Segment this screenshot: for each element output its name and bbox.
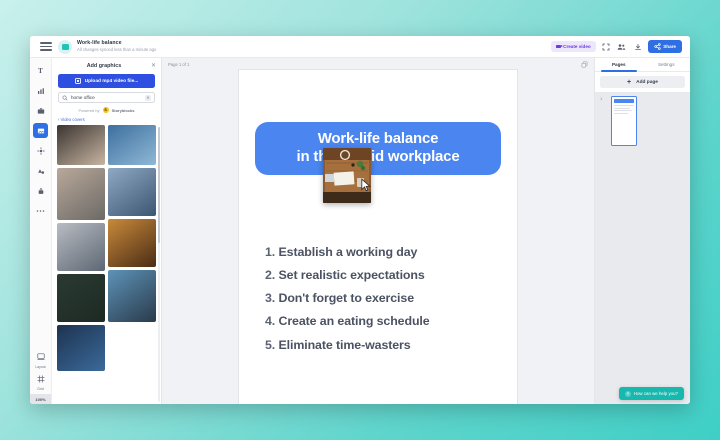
thumbnail-scroll-area[interactable] (52, 125, 161, 404)
app-body: T (30, 58, 690, 404)
topbar-actions: Create video (551, 40, 684, 53)
thumb-line (614, 110, 632, 111)
title-line-1: Work-life balance (263, 130, 493, 148)
thumb-line (614, 105, 634, 106)
upload-label: Upload mp4 video file... (85, 79, 139, 84)
app-logo (58, 40, 72, 54)
bullet-text: Don't forget to exercise (278, 291, 414, 305)
title-banner[interactable]: Work-life balance in the hybrid workplac… (255, 122, 501, 175)
tab-settings[interactable]: Settings (643, 58, 691, 71)
text-tool-icon[interactable]: T (33, 63, 48, 78)
hamburger-icon[interactable] (40, 42, 52, 51)
grid-icon[interactable] (33, 372, 48, 387)
upload-icon (75, 78, 81, 84)
top-bar: Work-life balance All changes synced les… (30, 36, 690, 58)
slide-canvas[interactable]: Work-life balance in the hybrid workplac… (239, 70, 517, 404)
add-graphics-panel: Add graphics ✕ Upload mp4 video file... … (52, 58, 162, 404)
provider-name: Storyblocks (112, 108, 135, 113)
storyblocks-badge: S (103, 107, 109, 113)
bullet-number: 3. (265, 291, 278, 305)
document-meta: Work-life balance All changes synced les… (77, 41, 156, 52)
ellipsis-icon[interactable] (33, 203, 48, 218)
page-number: 1 (600, 96, 602, 400)
layout-icon[interactable] (33, 349, 48, 364)
panel-title: Add graphics (57, 63, 151, 69)
glass-office-tower[interactable] (108, 168, 156, 216)
bullet-text: Establish a working day (278, 245, 417, 259)
bullet-number: 5. (265, 338, 278, 352)
grid-label: Grid (37, 387, 43, 391)
thumbnail-grid (57, 125, 156, 371)
control-room-monitors[interactable] (108, 125, 156, 165)
download-icon[interactable] (632, 41, 644, 53)
chart-bar-icon[interactable] (33, 83, 48, 98)
office-window-shadow[interactable] (57, 168, 105, 220)
bullet-item: 5. Eliminate time-wasters (265, 339, 495, 353)
page-indicator: Page 1 of 1 (168, 62, 189, 67)
bullet-item: 4. Create an eating schedule (265, 315, 495, 329)
tool-rail: T (30, 58, 52, 404)
bullet-item: 1. Establish a working day (265, 246, 495, 260)
layout-label: Layout (35, 365, 45, 369)
upload-video-button[interactable]: Upload mp4 video file... (58, 74, 155, 88)
expand-icon[interactable] (600, 41, 612, 53)
clear-icon[interactable]: ✕ (145, 95, 151, 101)
plus-icon: + (627, 79, 631, 86)
breadcrumb[interactable]: ‹ Video covers (52, 117, 161, 125)
tab-pages[interactable]: Pages (595, 58, 643, 71)
lock-icon[interactable] (33, 183, 48, 198)
bullet-item: 3. Don't forget to exercise (265, 292, 495, 306)
woman-at-desk-monitors[interactable] (57, 325, 105, 371)
pages-list: 1 (595, 92, 690, 404)
graphics-tool-icon[interactable] (33, 123, 48, 138)
powered-by: Powered by S Storyblocks (52, 107, 161, 117)
search-icon (62, 95, 68, 101)
help-widget[interactable]: ? How can we help you? (619, 387, 684, 400)
sync-status: All changes synced less than a minute ag… (77, 48, 156, 52)
bullet-item: 2. Set realistic expectations (265, 269, 495, 283)
pages-panel: Pages Settings + Add page 1 (594, 58, 690, 404)
city-street-buildings[interactable] (57, 223, 105, 271)
bullet-text: Eliminate time-wasters (278, 338, 410, 352)
powered-by-label: Powered by (78, 108, 99, 113)
add-page-button[interactable]: + Add page (600, 76, 685, 88)
bullet-text: Set realistic expectations (278, 268, 424, 282)
page-thumbnail-1[interactable] (611, 96, 637, 146)
panel-scrollbar[interactable] (158, 127, 160, 402)
widget-icon[interactable] (33, 143, 48, 158)
woman-glasses-sunset[interactable] (108, 219, 156, 267)
shapes-icon[interactable] (33, 163, 48, 178)
thumbnail-column-left (57, 125, 105, 371)
desk-photo-drag-preview[interactable] (323, 148, 371, 203)
panel-header: Add graphics ✕ (52, 58, 161, 72)
people-icon[interactable] (616, 41, 628, 53)
app-window: Work-life balance All changes synced les… (30, 36, 690, 404)
thumb-line (614, 113, 628, 114)
share-icon (654, 43, 661, 50)
create-video-button[interactable]: Create video (551, 41, 596, 52)
search-field[interactable]: ✕ (58, 92, 155, 103)
bullet-number: 2. (265, 268, 278, 282)
thumb-line (614, 108, 630, 109)
man-headphones-laptop[interactable] (108, 270, 156, 322)
briefcase-icon[interactable] (33, 103, 48, 118)
share-button[interactable]: Share (648, 40, 682, 53)
add-page-label: Add page (636, 80, 658, 85)
woman-at-laptop[interactable] (57, 125, 105, 165)
question-icon: ? (625, 391, 631, 397)
title-line-2: in the hybrid workplace (263, 148, 493, 166)
pages-tabs: Pages Settings (595, 58, 690, 72)
bullet-list[interactable]: 1. Establish a working day2. Set realist… (265, 246, 495, 362)
thumb-title-bar (614, 99, 634, 103)
bullet-number: 1. (265, 245, 278, 259)
bullet-text: Create an eating schedule (278, 314, 429, 328)
man-in-suit-desk[interactable] (57, 274, 105, 322)
share-label: Share (663, 44, 676, 49)
zoom-level[interactable]: 100% (30, 394, 51, 404)
thumbnail-column-right (108, 125, 156, 371)
scrollbar-thumb[interactable] (158, 127, 160, 243)
bullet-number: 4. (265, 314, 278, 328)
tool-rail-bottom: Layout Grid 100% (30, 349, 51, 404)
canvas-area: Page 1 of 1 Work-life balance in the hyb… (162, 58, 594, 404)
create-video-label: Create video (563, 44, 591, 49)
duplicate-icon[interactable] (581, 58, 588, 73)
search-input[interactable] (71, 95, 142, 100)
page-title: Work-life balance (77, 41, 156, 46)
video-camera-icon (556, 45, 561, 49)
close-icon[interactable]: ✕ (151, 63, 156, 69)
help-label: How can we help you? (634, 391, 678, 396)
canvas-toolbar: Page 1 of 1 (162, 58, 594, 70)
